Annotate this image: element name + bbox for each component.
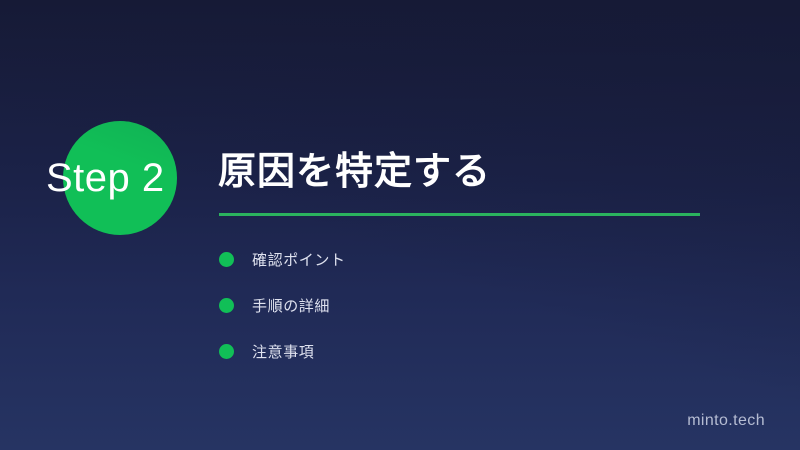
bullet-dot-icon [219, 252, 234, 267]
list-item: 確認ポイント [219, 236, 346, 282]
list-item: 手順の詳細 [219, 282, 346, 328]
slide-canvas: Step 2 原因を特定する 確認ポイント 手順の詳細 注意事項 minto.t… [0, 0, 800, 450]
list-item-label: 確認ポイント [252, 249, 346, 270]
bullet-list: 確認ポイント 手順の詳細 注意事項 [219, 236, 346, 374]
list-item: 注意事項 [219, 328, 346, 374]
title-divider [219, 213, 700, 216]
list-item-label: 注意事項 [252, 341, 314, 362]
page-title: 原因を特定する [218, 148, 491, 196]
bullet-dot-icon [219, 298, 234, 313]
footer-brand: minto.tech [687, 412, 765, 430]
bullet-dot-icon [219, 344, 234, 359]
list-item-label: 手順の詳細 [252, 295, 330, 316]
